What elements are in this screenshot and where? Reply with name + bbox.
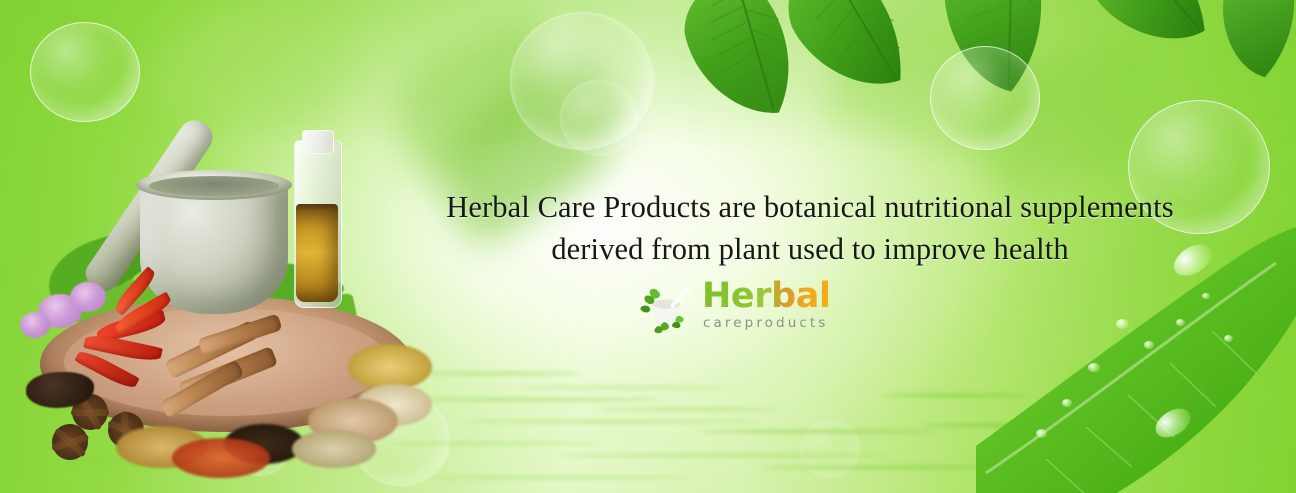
herbal-products-photo xyxy=(12,78,432,490)
headline-line-1: Herbal Care Products are botanical nutri… xyxy=(330,186,1290,228)
bubble-decoration xyxy=(560,80,638,156)
logo-wordmark: Herbal xyxy=(702,278,831,315)
mortar-opening xyxy=(149,176,279,196)
headline-line-2: derived from plant used to improve healt… xyxy=(330,228,1290,270)
bottle-neck xyxy=(302,130,334,154)
banner-headline: Herbal Care Products are botanical nutri… xyxy=(330,186,1290,270)
brand-logo[interactable]: Herbal careproducts xyxy=(636,278,886,340)
leaf-decoration xyxy=(1176,0,1296,90)
herbal-care-products-banner: Herbal Care Products are botanical nutri… xyxy=(0,0,1296,493)
logo-tagline: careproducts xyxy=(703,316,831,331)
grain-pile xyxy=(292,430,376,468)
mortar-pestle-herb-logo-icon xyxy=(636,282,698,334)
purple-flower xyxy=(70,282,106,312)
purple-flower xyxy=(20,312,50,338)
mixed-spice-pile xyxy=(172,438,270,478)
logo-text-block: Herbal careproducts xyxy=(702,278,831,331)
bubble-decoration xyxy=(930,46,1040,150)
